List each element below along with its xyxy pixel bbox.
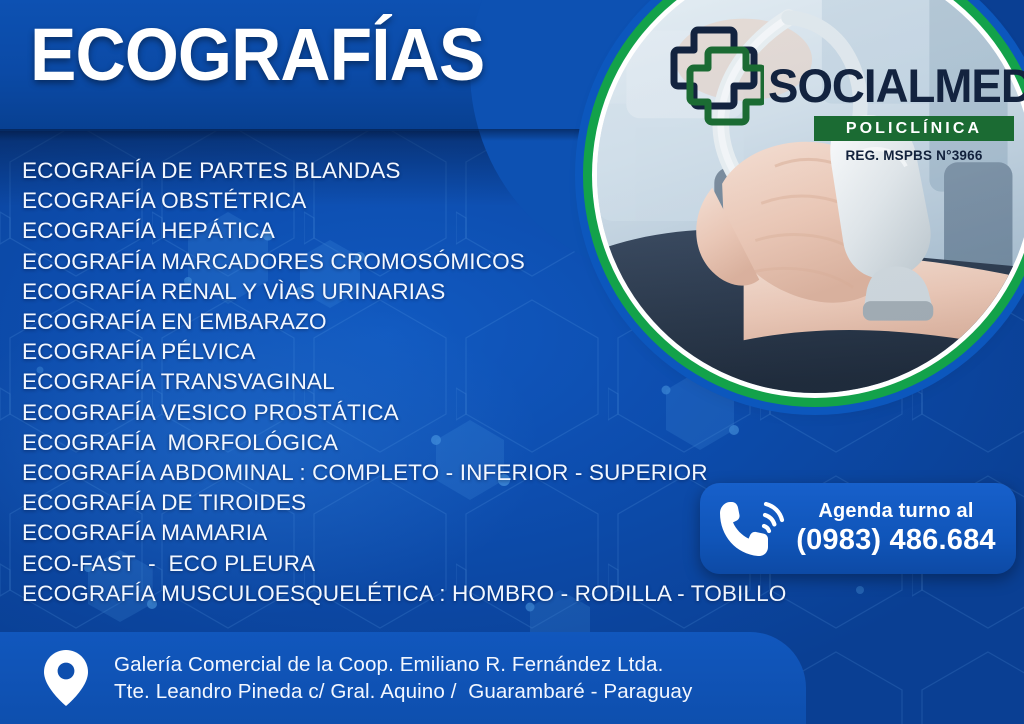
double-medical-cross-icon [668,24,764,128]
appointment-label: Agenda turno al [790,500,1002,523]
brand-subtitle-bar: POLICLÍNICA [814,116,1014,141]
poster-root: ECOGRAFÍAS [0,0,1024,724]
service-item: ECOGRAFÍA ABDOMINAL : COMPLETO - INFERIO… [22,458,782,488]
service-item: ECOGRAFÍA PÉLVICA [22,337,782,367]
map-pin-icon [44,650,88,706]
brand-subtitle: POLICLÍNICA [846,120,982,138]
brand-logo: SOCIALMED POLICLÍNICA REG. MSPBS N°3966 [668,24,1008,164]
phone-number: (0983) 486.684 [790,524,1002,557]
service-item: ECO-FAST - ECO PLEURA [22,549,782,579]
service-item: ECOGRAFÍA HEPÁTICA [22,216,782,246]
service-item: ECOGRAFÍA RENAL Y VÌAS URINARIAS [22,277,782,307]
appointment-phone-badge[interactable]: Agenda turno al (0983) 486.684 [700,483,1016,574]
service-item: ECOGRAFÍA OBSTÉTRICA [22,186,782,216]
footer-address-panel: Galería Comercial de la Coop. Emiliano R… [0,632,806,724]
address-line-1: Galería Comercial de la Coop. Emiliano R… [114,651,692,679]
phone-text-block: Agenda turno al (0983) 486.684 [790,500,1016,557]
service-item: ECOGRAFÍA TRANSVAGINAL [22,367,782,397]
page-title: ECOGRAFÍAS [30,18,484,92]
service-item: ECOGRAFÍA DE TIROIDES [22,488,782,518]
service-item: ECOGRAFÍA MUSCULOESQUELÉTICA : HOMBRO - … [22,579,782,609]
service-item: ECOGRAFÍA VESICO PROSTÁTICA [22,398,782,428]
footer-address-text: Galería Comercial de la Coop. Emiliano R… [114,651,692,706]
registration-number: REG. MSPBS N°3966 [814,148,1014,163]
ringing-phone-icon [716,498,790,560]
service-item: ECOGRAFÍA MORFOLÓGICA [22,428,782,458]
address-line-2: Tte. Leandro Pineda c/ Gral. Aquino / Gu… [114,678,692,706]
service-item: ECOGRAFÍA MAMARIA [22,518,782,548]
service-item: ECOGRAFÍA EN EMBARAZO [22,307,782,337]
service-list: ECOGRAFÍA DE PARTES BLANDAS ECOGRAFÍA OB… [22,156,782,609]
brand-name: SOCIALMED [768,58,1024,113]
service-item: ECOGRAFÍA MARCADORES CROMOSÓMICOS [22,247,782,277]
